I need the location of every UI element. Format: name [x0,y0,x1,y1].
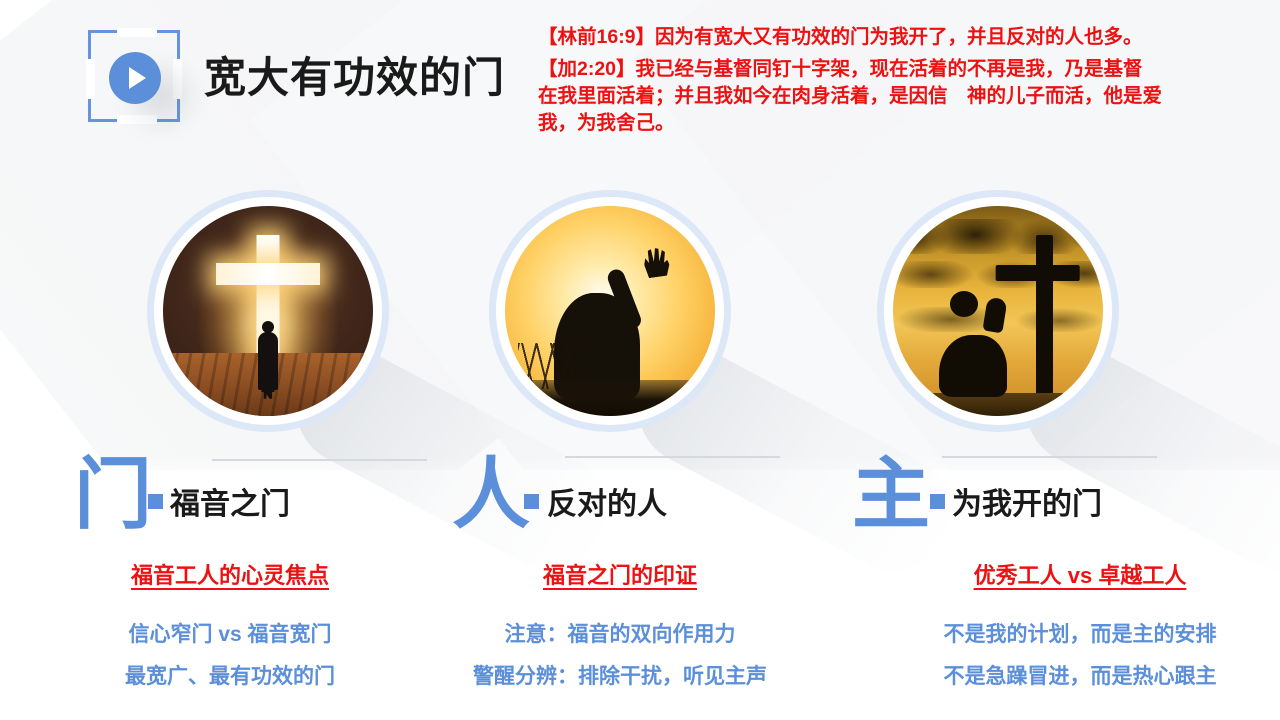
slide-canvas: 宽大有功效的门 【林前16:9】因为有宽大又有功效的门为我开了，并且反对的人也多… [0,0,1280,720]
cross-silhouette [1036,235,1053,401]
column-red-heading-2: 福音之门的印证 [430,558,810,590]
column-image-2 [505,206,715,416]
glowing-cross-doorway-art [163,206,373,416]
scripture-block: 【林前16:9】因为有宽大又有功效的门为我开了，并且反对的人也多。 【加2:20… [538,24,1268,137]
column-body-line-1-1: 信心窄门 vs 福音宽门 [40,618,420,648]
column-subtitle-1: 福音之门 [170,490,290,520]
play-button-icon [109,52,161,104]
scripture-verse-2-line-2: 在我里面活着；并且我如今在肉身活着，是因信 神的儿子而活，他是爱 [538,83,1268,110]
column-big-char-2: 人 [452,455,530,533]
scripture-verse-2: 【加2:20】我已经与基督同钉十字架，现在活着的不再是我，乃是基督 在我里面活着… [538,56,1268,137]
column-subtitle-2: 反对的人 [547,490,667,520]
scripture-verse-2-line-3: 我，为我舍己。 [538,110,1268,137]
section-divider-2 [565,456,780,458]
column-body-line-3-1: 不是我的计划，而是主的安排 [890,618,1270,648]
column-body-line-3-2: 不是急躁冒进，而是热心跟主 [890,660,1270,690]
raised-hand-silhouette [642,247,671,279]
column-image-1 [163,206,373,416]
brand-logo [88,30,188,130]
column-bullet-square-1 [148,494,163,509]
standing-man-silhouette [258,332,278,390]
column-big-char-1: 门 [74,455,152,533]
column-bullet-square-2 [524,494,539,509]
page-title: 宽大有功效的门 [204,44,505,105]
column-red-heading-3: 优秀工人 vs 卓越工人 [890,558,1270,590]
column-body-line-1-2: 最宽广、最有功效的门 [40,660,420,690]
section-divider-3 [942,456,1157,458]
praying-figure-cross-sunset-art [893,206,1103,416]
scripture-verse-2-line-1: 【加2:20】我已经与基督同钉十字架，现在活着的不再是我，乃是基督 [538,56,1268,83]
column-red-heading-1: 福音工人的心灵焦点 [40,558,420,590]
section-divider-1 [212,459,427,461]
column-body-line-2-1: 注意：福音的双向作用力 [430,618,810,648]
play-triangle-icon [129,67,146,89]
kneeling-worshipper-sunset-art [505,206,715,416]
scripture-verse-1: 【林前16:9】因为有宽大又有功效的门为我开了，并且反对的人也多。 [538,24,1268,51]
column-big-char-3: 主 [852,455,930,533]
column-bullet-square-3 [930,494,945,509]
column-body-line-2-2: 警醒分辨：排除干扰，听见主声 [430,660,810,690]
column-image-3 [893,206,1103,416]
column-subtitle-3: 为我开的门 [952,490,1102,520]
